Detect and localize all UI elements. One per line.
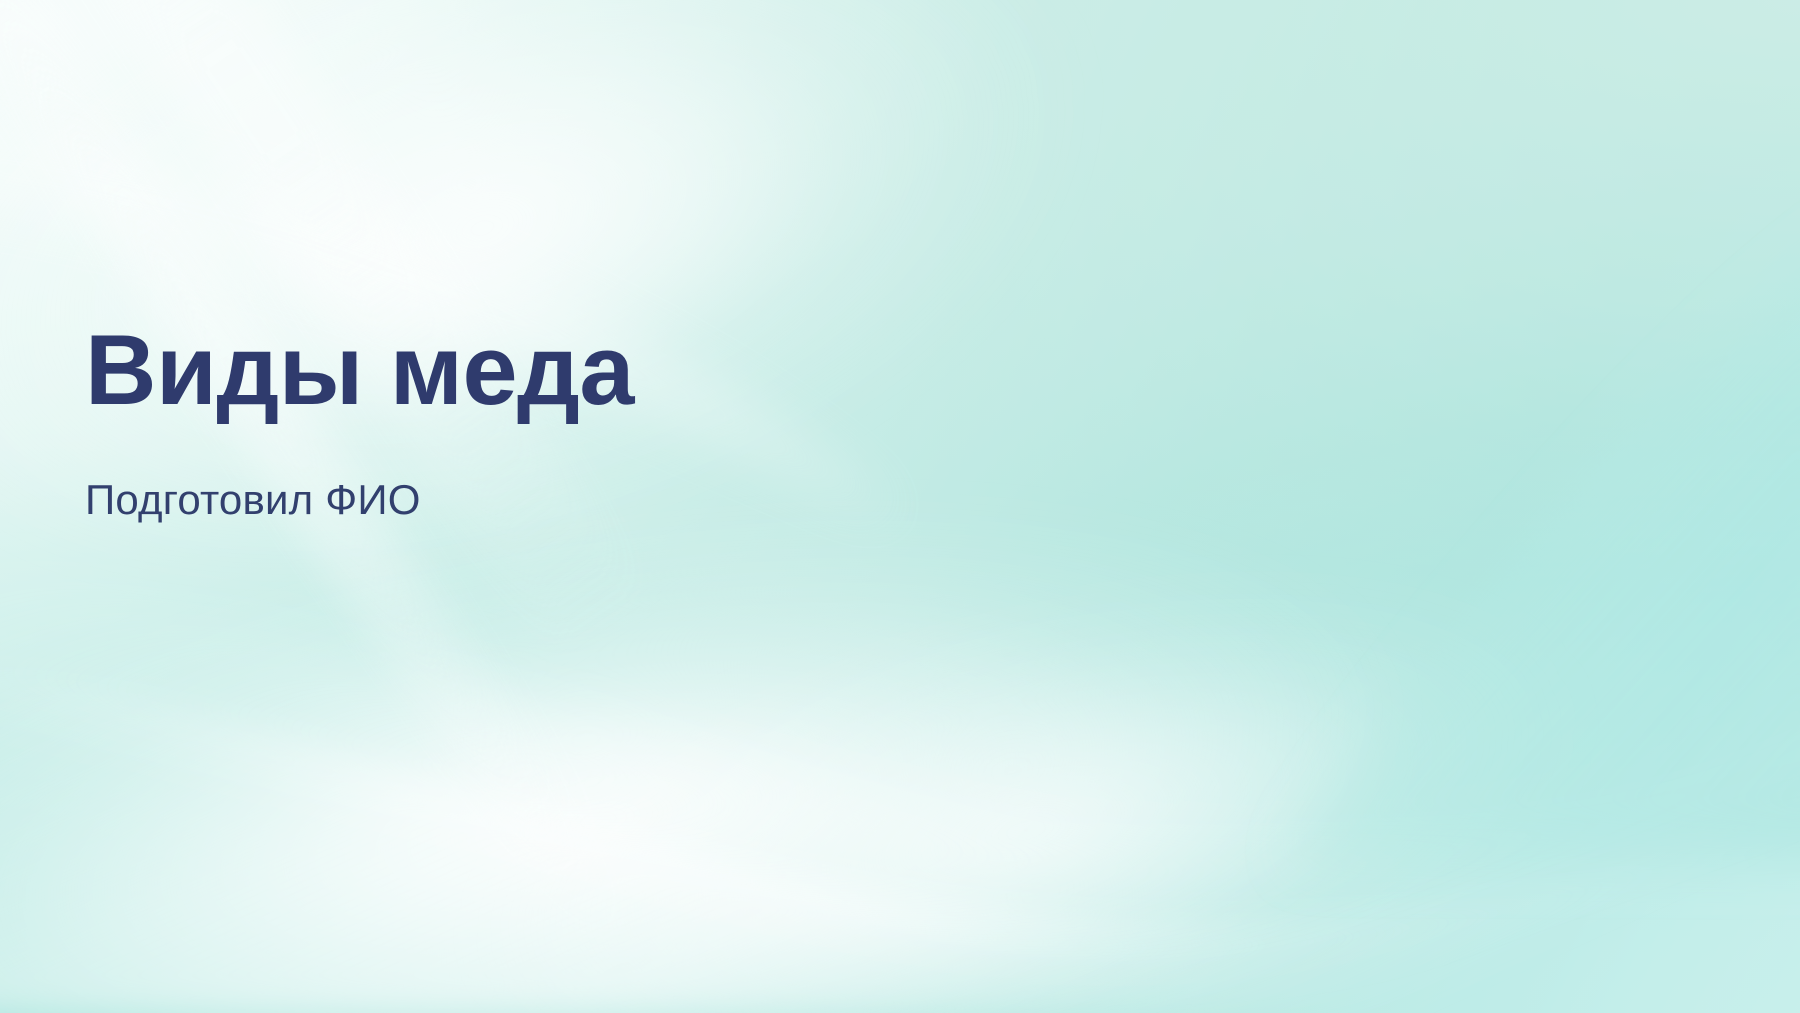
- wave-upper-right-shelf: [1290, 230, 1800, 860]
- slide-subtitle: Подготовил ФИО: [85, 423, 1085, 525]
- page-title: Виды меда: [85, 318, 1085, 423]
- title-block: Виды меда Подготовил ФИО: [85, 318, 1085, 525]
- title-slide: Виды меда Подготовил ФИО: [0, 0, 1800, 1013]
